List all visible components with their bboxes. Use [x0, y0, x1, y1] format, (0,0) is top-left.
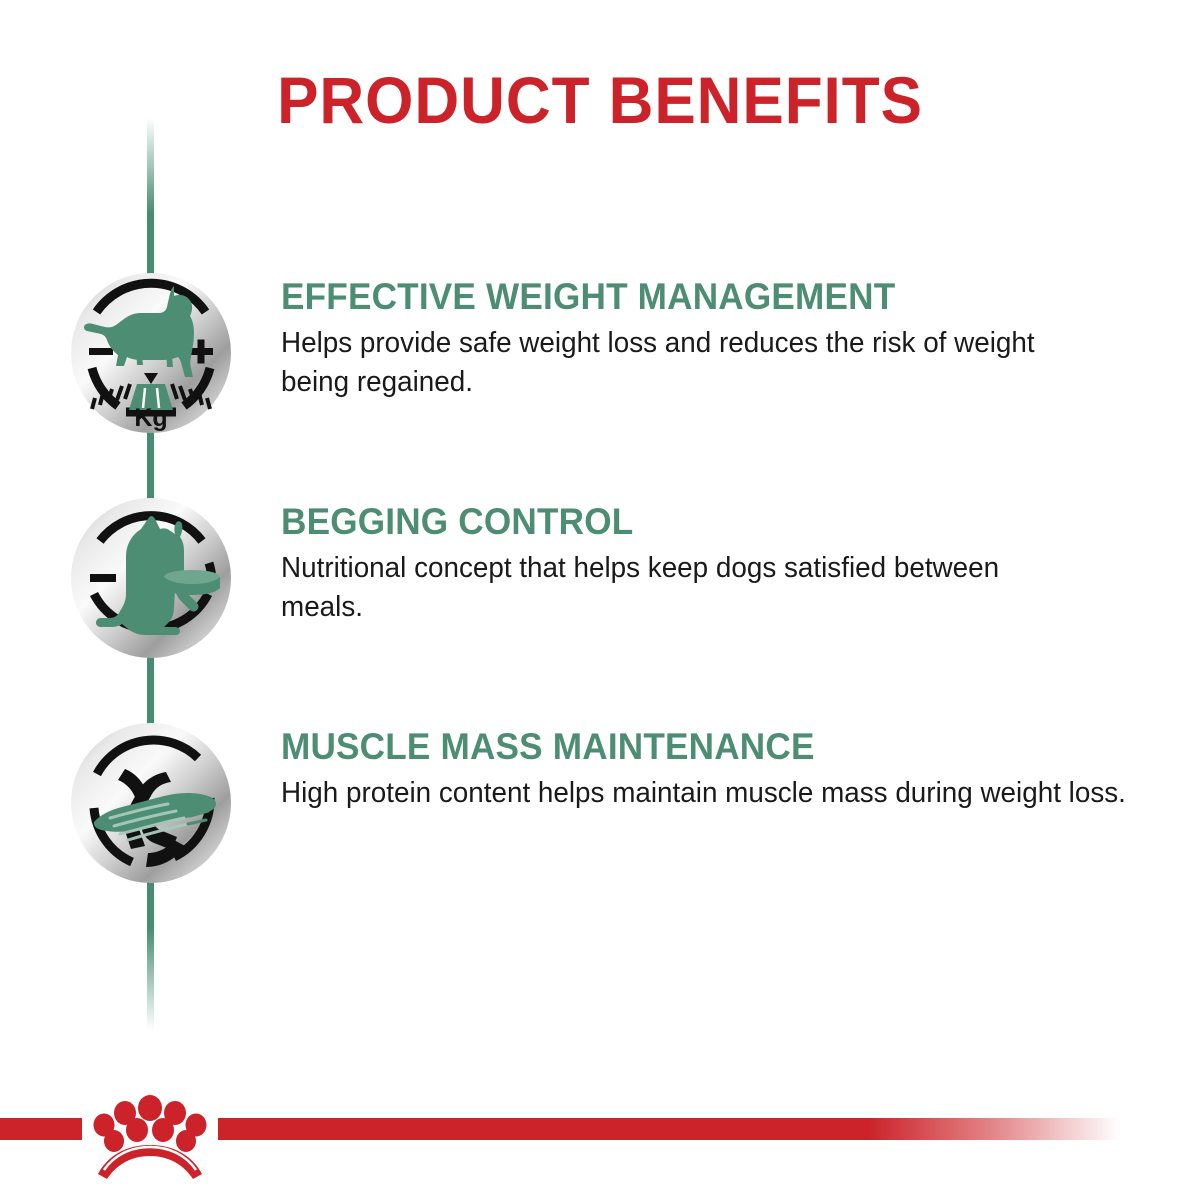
svg-text:Kg: Kg	[134, 404, 167, 432]
page-title: PRODUCT BENEFITS	[36, 66, 1164, 135]
footer-bar-left	[0, 1118, 82, 1140]
benefit-text-block: MUSCLE MASS MAINTENANCE High protein con…	[281, 728, 1171, 813]
begging-dog-bowl-icon	[70, 497, 232, 659]
product-benefits-page: PRODUCT BENEFITS	[0, 0, 1200, 1200]
benefit-text-block: EFFECTIVE WEIGHT MANAGEMENT Helps provid…	[281, 278, 1171, 402]
footer-bar-right	[218, 1118, 1120, 1140]
benefit-heading: BEGGING CONTROL	[281, 503, 1127, 542]
benefit-text-block: BEGGING CONTROL Nutritional concept that…	[281, 503, 1171, 627]
benefit-heading: MUSCLE MASS MAINTENANCE	[281, 728, 1127, 767]
footer	[0, 1092, 1200, 1200]
benefit-heading: EFFECTIVE WEIGHT MANAGEMENT	[281, 278, 1127, 317]
benefit-description: High protein content helps maintain musc…	[281, 774, 1135, 813]
benefit-description: Nutritional concept that helps keep dogs…	[281, 549, 1087, 627]
muscle-fiber-icon	[70, 722, 232, 884]
dog-on-scale-icon: Kg	[70, 272, 232, 434]
royal-canin-crown-logo	[84, 1094, 216, 1182]
benefit-description: Helps provide safe weight loss and reduc…	[281, 324, 1087, 402]
